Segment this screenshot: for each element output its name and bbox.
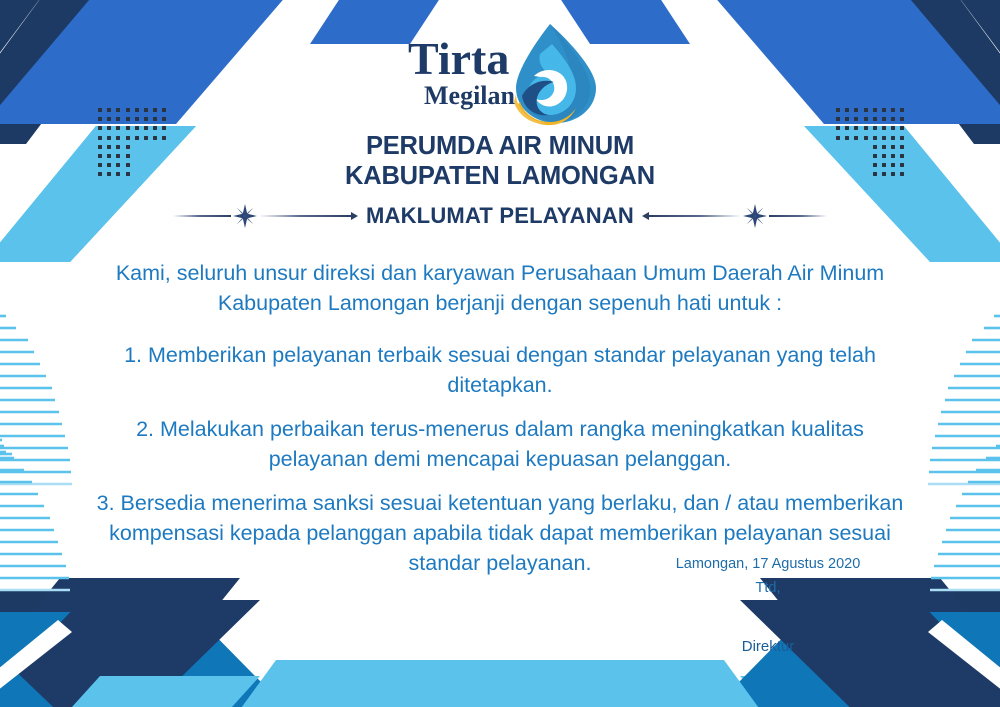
page-title: PERUMDA AIR MINUM KABUPATEN LAMONGAN [0,131,1000,191]
signature-place-date: Lamongan, 17 Agustus 2020 [673,552,863,576]
commitment-item-2: 2. Melakukan perbaikan terus-menerus dal… [95,414,905,474]
commitment-item-1: 1. Memberikan pelayanan terbaik sesuai d… [95,340,905,400]
divider-line-1 [173,215,231,217]
star-ornament-left [232,203,258,229]
divider-line-2 [259,215,351,217]
org-title-line1: PERUMDA AIR MINUM [0,131,1000,161]
star-ornament-right [742,203,768,229]
logo-word-tirta: Tirta [408,33,509,84]
body-content: Kami, seluruh unsur direksi dan karyawan… [95,258,905,578]
intro-paragraph: Kami, seluruh unsur direksi dan karyawan… [95,258,905,318]
section-title: MAKLUMAT PELAYANAN [358,203,642,229]
signature-block: Lamongan, 17 Agustus 2020 Ttd, [673,552,863,600]
divider-arrow-left [351,212,358,220]
divider-line-4 [769,215,827,217]
section-divider: MAKLUMAT PELAYANAN [0,203,1000,229]
divider-arrow-right [642,212,649,220]
maklumat-pelayanan-poster: Tirta Megilan PERUMDA AIR MINUM KABUPATE… [0,0,1000,707]
org-title-line2: KABUPATEN LAMONGAN [0,161,1000,191]
signature-ttd-label: Ttd, [673,576,863,600]
logo-word-megilan: Megilan [424,81,516,110]
tirta-megilan-logo-icon: Tirta Megilan [400,22,600,127]
logo-container: Tirta Megilan [0,22,1000,127]
divider-line-3 [649,215,741,217]
signature-role: Direktur [692,638,844,655]
